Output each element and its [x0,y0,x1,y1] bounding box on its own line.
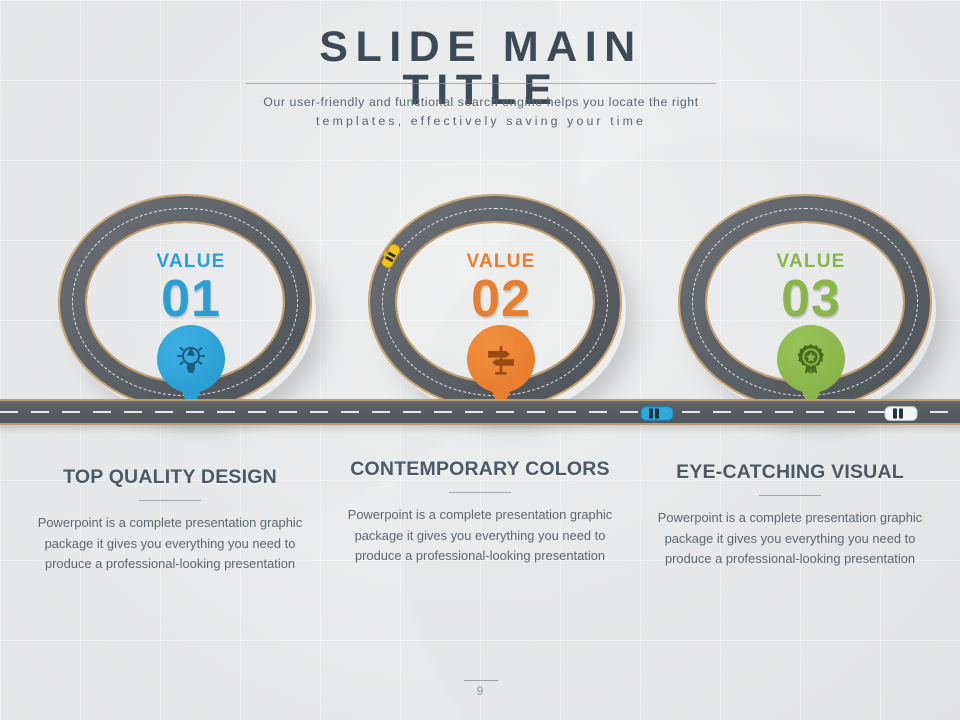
value-number-three: 03 [680,269,942,329]
road-drop-shadow [0,425,960,434]
value-number-one: 01 [60,269,322,329]
feature-body-two: Powerpoint is a complete presentation gr… [330,505,630,566]
road-circle-two[interactable]: VALUE 02 [370,196,632,416]
feature-column-three: EYE-CATCHING VISUAL Powerpoint is a comp… [640,461,940,570]
road-edge-top [0,399,960,401]
lightbulb-icon [157,325,225,393]
subtitle-line-1: Our user-friendly and functional search … [246,93,716,112]
feature-heading-one: TOP QUALITY DESIGN [20,466,320,489]
value-number-two: 02 [370,269,632,329]
road-circle-three[interactable]: VALUE 03 [680,196,942,416]
award-ribbon-icon [777,325,845,393]
road-circle-one[interactable]: VALUE 01 [60,196,322,416]
road-center-dash [0,411,960,413]
signpost-icon [467,325,535,393]
white-car-icon [884,405,918,422]
feature-heading-two: CONTEMPORARY COLORS [330,458,630,481]
feature-divider-three [759,495,821,496]
slide-subtitle: Our user-friendly and functional search … [246,93,716,131]
feature-divider-two [449,492,511,493]
subtitle-line-2: templates, effectively saving your time [246,112,716,131]
feature-body-one: Powerpoint is a complete presentation gr… [20,513,320,574]
footer-divider [464,680,498,681]
title-divider [246,83,716,84]
feature-heading-three: EYE-CATCHING VISUAL [640,461,940,484]
blue-car-icon [640,405,674,422]
feature-column-one: TOP QUALITY DESIGN Powerpoint is a compl… [20,466,320,575]
page-number: 9 [0,684,960,698]
feature-body-three: Powerpoint is a complete presentation gr… [640,508,940,569]
feature-divider-one [139,500,201,501]
feature-column-two: CONTEMPORARY COLORS Powerpoint is a comp… [330,458,630,567]
slide-canvas: SLIDE MAIN TITLE Our user-friendly and f… [0,0,960,720]
